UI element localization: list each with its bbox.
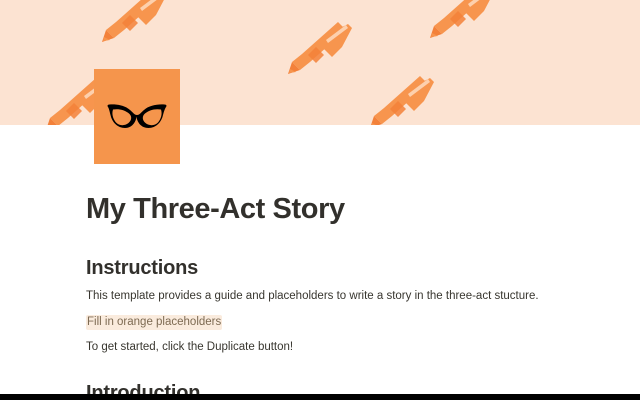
paragraph-template-description[interactable]: This template provides a guide and place… <box>86 280 556 305</box>
section-heading-instructions[interactable]: Instructions <box>86 226 556 280</box>
highlighted-text[interactable]: Fill in orange placeholders <box>86 315 222 330</box>
content-column: My Three-Act Story Instructions This tem… <box>86 125 556 400</box>
paragraph-orange-placeholders[interactable]: Fill in orange placeholders <box>86 305 556 331</box>
page-root: My Three-Act Story Instructions This tem… <box>0 0 640 400</box>
viewport-bottom-bar <box>0 394 640 400</box>
paragraph-duplicate-instruction[interactable]: To get started, click the Duplicate butt… <box>86 331 556 356</box>
page-icon[interactable] <box>94 69 180 164</box>
glasses-icon <box>106 102 168 132</box>
document-content: My Three-Act Story Instructions This tem… <box>0 125 640 400</box>
